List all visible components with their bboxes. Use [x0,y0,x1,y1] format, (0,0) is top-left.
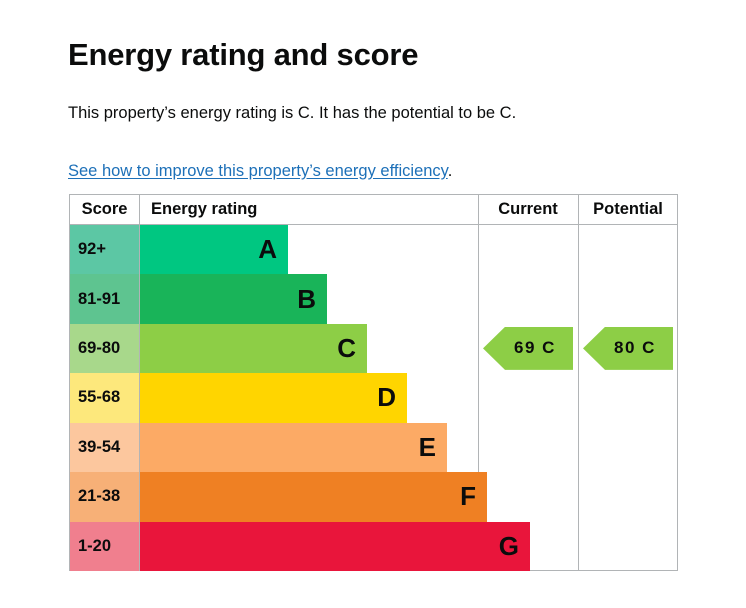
score-range-cell: 1-20 [70,522,139,571]
potential-rating-marker: 80 C [583,327,673,370]
intro-text: This property’s energy rating is C. It h… [68,102,516,126]
rating-bands-container: 92+A81-91B69-80C69 C80 C55-68D39-54E21-3… [70,225,677,571]
energy-rating-page: Energy rating and score This property’s … [0,0,746,608]
score-range-cell: 55-68 [70,373,139,422]
score-range-cell: 81-91 [70,274,139,323]
rating-band-row: 1-20G [70,522,677,571]
improve-efficiency-line: See how to improve this property’s energ… [68,160,452,184]
column-header-score: Score [70,195,139,224]
table-header-row: Score Energy rating Current Potential [70,195,677,225]
energy-rating-table: Score Energy rating Current Potential 92… [69,194,678,571]
potential-marker-label: 80 C [600,338,656,358]
column-header-energy-rating: Energy rating [140,195,478,224]
rating-band-bar: A [140,225,288,274]
rating-band-row: 81-91B [70,274,677,323]
rating-band-row: 21-38F [70,472,677,521]
improve-link-suffix: . [448,162,453,180]
score-range-cell: 39-54 [70,423,139,472]
rating-band-bar: B [140,274,327,323]
column-header-current: Current [478,195,578,224]
page-title: Energy rating and score [68,37,418,73]
score-range-cell: 92+ [70,225,139,274]
score-range-cell: 21-38 [70,472,139,521]
improve-efficiency-link[interactable]: See how to improve this property’s energ… [68,162,448,180]
current-rating-marker: 69 C [483,327,573,370]
rating-band-bar: G [140,522,530,571]
rating-band-row: 55-68D [70,373,677,422]
rating-band-bar: E [140,423,447,472]
column-header-potential: Potential [578,195,678,224]
rating-band-row: 69-80C69 C80 C [70,324,677,373]
rating-band-bar: D [140,373,407,422]
score-range-cell: 69-80 [70,324,139,373]
rating-band-bar: C [140,324,367,373]
current-marker-label: 69 C [500,338,556,358]
rating-band-bar: F [140,472,487,521]
rating-band-row: 39-54E [70,423,677,472]
rating-band-row: 92+A [70,225,677,274]
